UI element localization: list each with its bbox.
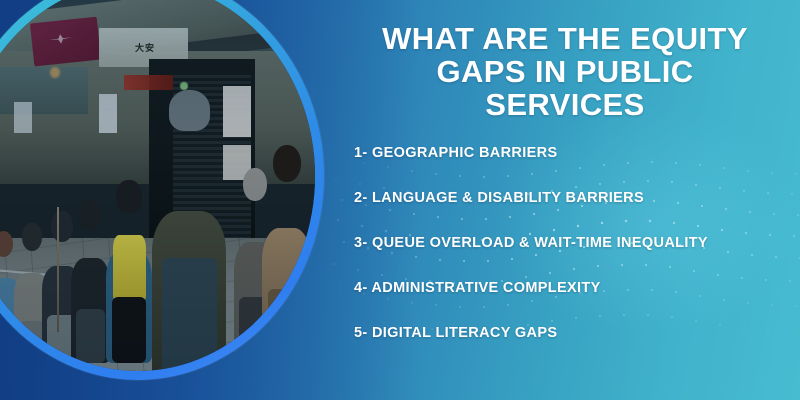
list-item-4: 4- ADMINISTRATIVE COMPLEXITY (354, 280, 784, 296)
infographic-poster: 大安 (0, 0, 800, 400)
title-line-3: SERVICES (352, 88, 778, 121)
content-panel: WHAT ARE THE EQUITY GAPS IN PUBLIC SERVI… (336, 0, 800, 400)
list-item-3: 3- QUEUE OVERLOAD & WAIT-TIME INEQUALITY (354, 235, 784, 251)
equity-gaps-list: 1- GEOGRAPHIC BARRIERS 2- LANGUAGE & DIS… (346, 145, 784, 341)
title-line-2: GAPS IN PUBLIC (352, 55, 778, 88)
title-line-1: WHAT ARE THE EQUITY (352, 22, 778, 55)
queue-photo: 大安 (0, 0, 315, 371)
page-title: WHAT ARE THE EQUITY GAPS IN PUBLIC SERVI… (346, 22, 784, 121)
photo-color-grade (0, 0, 315, 371)
list-item-1: 1- GEOGRAPHIC BARRIERS (354, 145, 784, 161)
photo-clip: 大安 (0, 0, 315, 371)
list-item-2: 2- LANGUAGE & DISABILITY BARRIERS (354, 190, 784, 206)
photo-circle: 大安 (0, 0, 324, 380)
list-item-5: 5- DIGITAL LITERACY GAPS (354, 325, 784, 341)
